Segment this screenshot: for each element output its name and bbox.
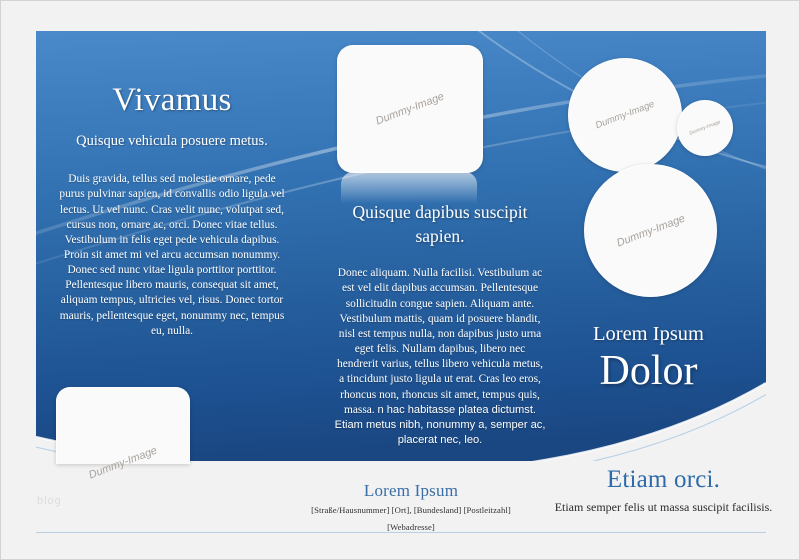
footer-divider [36,532,766,533]
image-placeholder-label: Dummy-Image [374,90,446,127]
image-placeholder-label: Dummy-Image [594,99,656,132]
image-placeholder-square[interactable]: Dummy-Image [337,45,483,173]
image-placeholder-label: Dummy-Image [689,119,722,136]
image-placeholder-circle-small[interactable]: Dummy-Image [677,100,733,156]
document-page: Vivamus Quisque vehicula posuere metus. … [0,0,800,560]
left-title: Vivamus [56,83,288,118]
middle-body: Donec aliquam. Nulla facilisi. Vestibulu… [334,266,546,448]
image-placeholder-circle-large[interactable]: Dummy-Image [568,58,682,172]
footer-center-web: [Webadresse] [271,522,551,532]
right-line1: Lorem Ipsum [541,323,756,347]
left-body: Duis gravida, tellus sed molestie ornare… [56,172,288,339]
footer-right-title: Etiam orci. [546,466,781,494]
image-placeholder-label: Dummy-Image [615,212,687,249]
image-placeholder-circle-medium[interactable]: Dummy-Image [584,164,717,297]
middle-body-serif: Donec aliquam. Nulla facilisi. Vestibulu… [337,267,543,415]
footer-center: Lorem Ipsum [Straße/Hausnummer] [Ort], [… [271,481,551,532]
left-subtitle: Quisque vehicula posuere metus. [56,132,288,152]
middle-heading: Quisque dapibus suscipit sapien. [334,201,546,248]
blog-watermark: blog [37,495,62,507]
left-column: Vivamus Quisque vehicula posuere metus. … [56,83,288,339]
right-column: Lorem Ipsum Dolor [541,323,756,394]
footer-right: Etiam orci. Etiam semper felis ut massa … [546,466,781,516]
footer-center-address: [Straße/Hausnummer] [Ort], [Bundesland] … [271,505,551,515]
footer-right-subtitle: Etiam semper felis ut massa suscipit fac… [546,500,781,516]
middle-column: Quisque dapibus suscipit sapien. Donec a… [334,201,546,448]
footer-center-title: Lorem Ipsum [271,481,551,501]
right-line2: Dolor [541,349,756,394]
image-placeholder-bottom[interactable] [56,387,190,464]
